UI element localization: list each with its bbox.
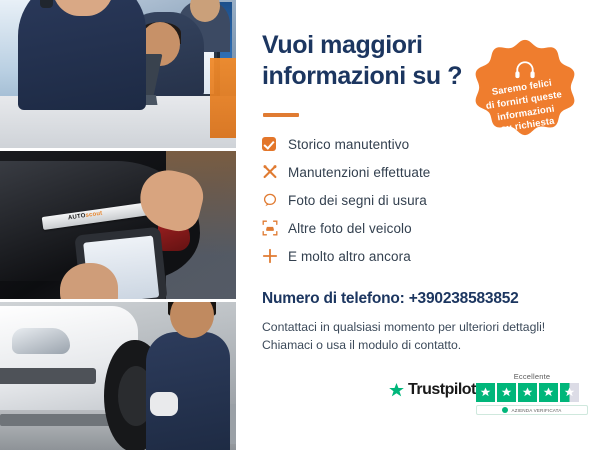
page-title-line-1: Vuoi maggiori [262, 30, 477, 61]
star-5-half [560, 383, 579, 402]
feature-label: Manutenzioni effettuate [288, 165, 430, 180]
verified-check-icon [502, 407, 508, 413]
checkbox-checked-icon [262, 133, 288, 155]
trustpilot-wordmark: Trustpilot [408, 381, 476, 399]
phone-number[interactable]: +390238583852 [409, 290, 519, 307]
headset-icon [514, 60, 536, 80]
contact-line-1: Contattaci in qualsiasi momento per ulte… [262, 318, 582, 336]
feature-item-foto-segni-usura: Foto dei segni di usura [262, 186, 582, 214]
star-3 [518, 383, 537, 402]
photo-mechanic-wheel-check [0, 302, 236, 450]
feature-item-altre-foto-veicolo: Altre foto del veicolo [262, 214, 582, 242]
car-focus-frame-icon [262, 217, 288, 239]
headset-earcup [40, 0, 53, 8]
promo-banner: AUTOscout Vuoi maggiori informazioni su … [0, 0, 600, 450]
car-lift-arm [0, 414, 120, 426]
plus-icon [262, 245, 288, 267]
trustpilot-rating: Eccellente AZIENDA VERIFICATA [476, 372, 588, 415]
star-4 [539, 383, 558, 402]
verified-label: AZIENDA VERIFICATA [511, 408, 561, 413]
trustpilot-stars [476, 383, 588, 402]
feature-item-manutenzioni-effettuate: Manutenzioni effettuate [262, 158, 582, 186]
crossed-tools-icon [262, 161, 288, 183]
mechanic-body [146, 332, 230, 450]
feature-label: E molto altro ancora [288, 249, 411, 264]
agent-foreground-body [18, 0, 146, 110]
star-1 [476, 383, 495, 402]
trustpilot-star-icon [388, 382, 405, 399]
feature-list: Storico manutentivo Manutenzioni effettu… [262, 130, 582, 270]
photo-call-center [0, 0, 236, 148]
contact-line-2: Chiamaci o usa il modulo di contatto. [262, 336, 582, 354]
speech-bubble-icon [262, 189, 288, 211]
callout-badge: Saremo felici di fornirti queste informa… [469, 38, 581, 150]
trustpilot-rating-label: Eccellente [476, 372, 588, 381]
orange-signage [210, 58, 236, 138]
feature-label: Altre foto del veicolo [288, 221, 412, 236]
verified-company-badge: AZIENDA VERIFICATA [476, 405, 588, 415]
feature-label: Foto dei segni di usura [288, 193, 427, 208]
car-grille [0, 368, 96, 384]
page-title-line-2: informazioni su ? [262, 61, 477, 92]
phone-label: Numero di telefono: [262, 290, 409, 307]
photo-vehicle-inspection: AUTOscout [0, 151, 236, 299]
photo-strip: AUTOscout [0, 0, 236, 450]
mechanic-glove [150, 392, 178, 416]
phone-line: Numero di telefono: +390238583852 [262, 290, 592, 308]
trustpilot-widget[interactable]: Trustpilot Eccellente AZIENDA VERIFICATA [388, 372, 588, 420]
feature-label: Storico manutentivo [288, 137, 409, 152]
title-underline-rule [263, 113, 299, 117]
star-2 [497, 383, 516, 402]
feature-item-molto-altro: E molto altro ancora [262, 242, 582, 270]
contact-instructions: Contattaci in qualsiasi momento per ulte… [262, 318, 582, 355]
trustpilot-logo: Trustpilot [388, 381, 476, 399]
car-headlight [12, 328, 70, 354]
page-title: Vuoi maggiori informazioni su ? [262, 30, 477, 91]
